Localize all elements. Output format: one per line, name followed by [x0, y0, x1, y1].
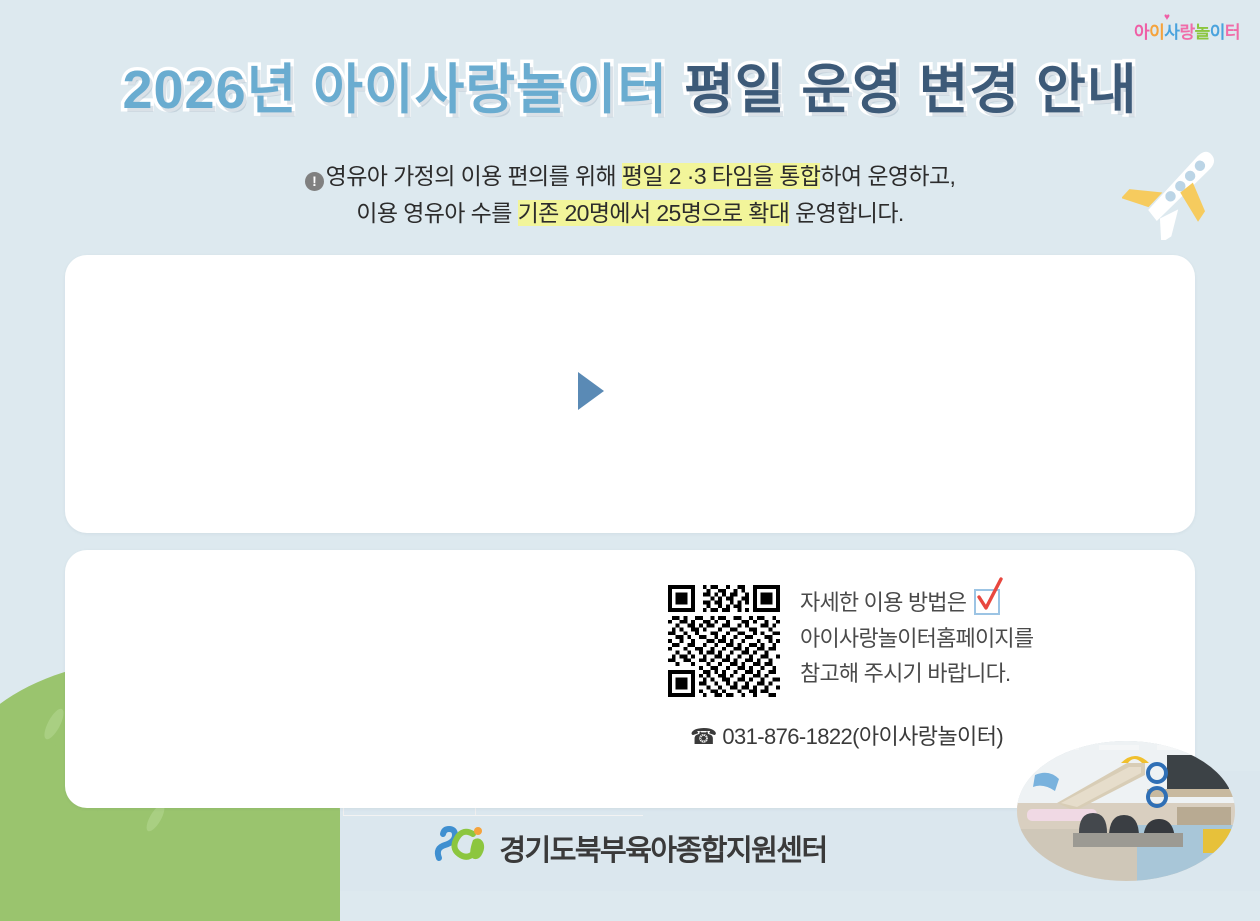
- subtitle-line1-a: 영유아 가정의 이용 편의를 위해: [326, 163, 622, 189]
- contact-section: 자세한 이용 방법은 아이사랑놀이터홈페이지를 참고해 주시기 바랍니다. ☎ …: [668, 585, 1033, 751]
- checkbox-checked-icon: [974, 589, 1000, 615]
- contact-text: 자세한 이용 방법은 아이사랑놀이터홈페이지를 참고해 주시기 바랍니다.: [800, 585, 1033, 692]
- contact-line-2: 아이사랑놀이터홈페이지를: [800, 621, 1033, 657]
- subtitle-line1-highlight: 평일 2 ·3 타임을 통합: [622, 163, 821, 189]
- comparison-card: [65, 255, 1195, 533]
- brand-logo-char: 이: [1149, 18, 1164, 43]
- organization-name: 경기도북부육아종합지원센터: [499, 827, 826, 869]
- exclamation-icon: !: [305, 172, 324, 191]
- subtitle-line-1: !영유아 가정의 이용 편의를 위해 평일 2 ·3 타임을 통합하여 운영하고…: [0, 158, 1260, 195]
- subtitle-line1-b: 하여 운영하고,: [820, 163, 955, 189]
- subtitle-line-2: 이용 영유아 수를 기존 20명에서 25명으로 확대 운영합니다.: [0, 195, 1260, 232]
- page-title-dark: 평일 운영 변경 안내: [684, 60, 1137, 120]
- brand-logo-char: 터: [1225, 18, 1240, 43]
- subtitle-line2-highlight: 기존 20명에서 25명으로 확대: [518, 200, 790, 226]
- arrow-right-icon: [578, 372, 604, 410]
- page-title-light: 2026년 아이사랑놀이터: [122, 60, 668, 120]
- brand-logo: ♥아이사랑놀이터: [1134, 18, 1240, 43]
- center-logo-icon: [433, 824, 489, 871]
- phone-number: ☎ 031-876-1822(아이사랑놀이터): [690, 719, 1033, 751]
- footer: 경기도북부육아종합지원센터: [0, 824, 1260, 871]
- subtitle: !영유아 가정의 이용 편의를 위해 평일 2 ·3 타임을 통합하여 운영하고…: [0, 158, 1260, 233]
- page-title: 2026년 아이사랑놀이터 평일 운영 변경 안내: [0, 62, 1260, 119]
- subtitle-line2-a: 이용 영유아 수를: [356, 200, 517, 226]
- contact-line-1: 자세한 이용 방법은: [800, 585, 1033, 621]
- brand-logo-char: 이: [1210, 18, 1225, 43]
- brand-logo-char: 랑: [1179, 18, 1194, 43]
- heart-icon: ♥: [1164, 12, 1169, 23]
- contact-line-1-text: 자세한 이용 방법은: [800, 590, 966, 615]
- brand-logo-char: 아: [1134, 18, 1149, 43]
- qr-code[interactable]: [668, 585, 780, 697]
- contact-line-3: 참고해 주시기 바랍니다.: [800, 656, 1033, 692]
- brand-logo-char: 놀: [1195, 18, 1210, 43]
- subtitle-line2-b: 운영합니다.: [789, 200, 903, 226]
